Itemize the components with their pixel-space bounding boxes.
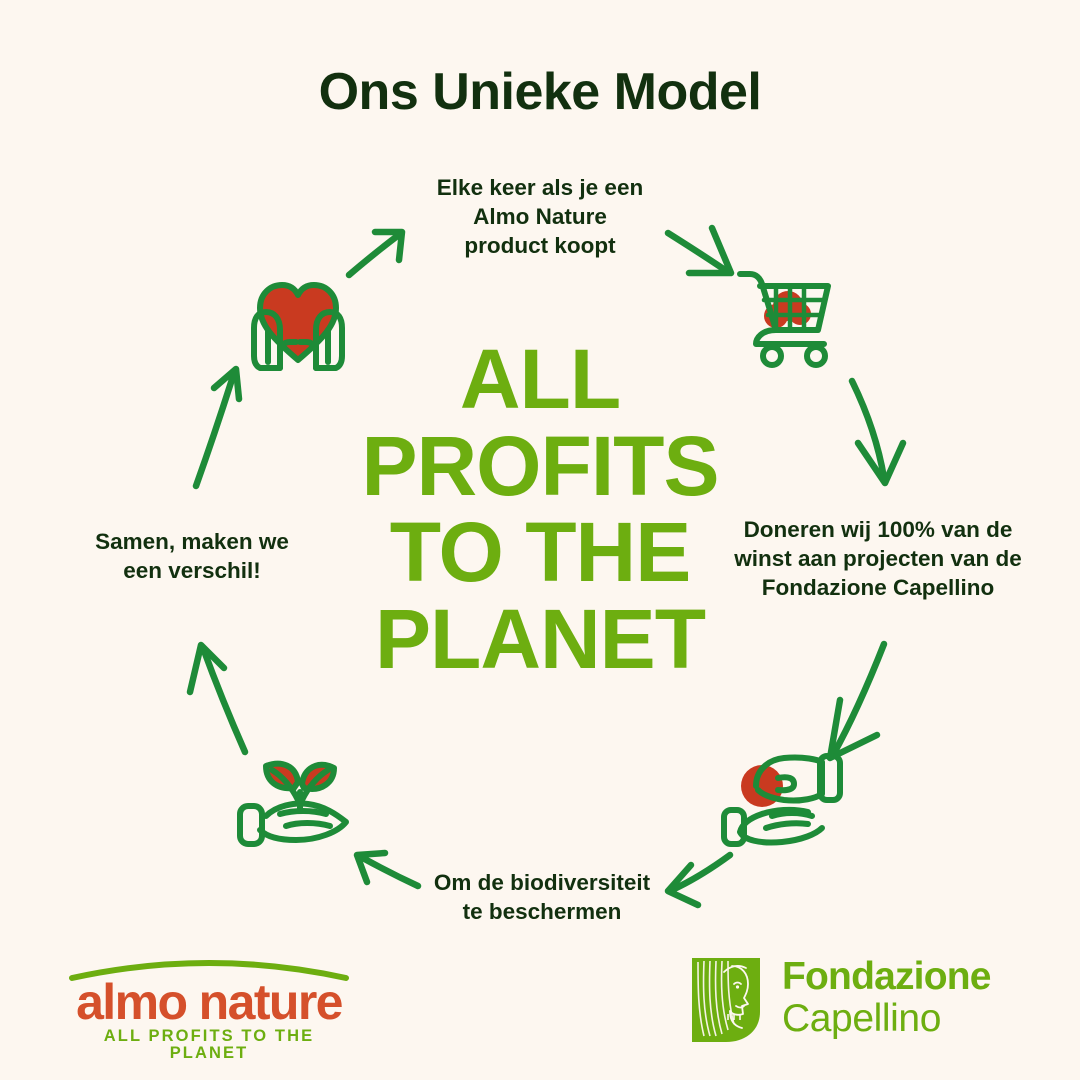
fondazione-line-2: Capellino: [782, 998, 1022, 1040]
arrow-text-to-cart: [668, 228, 731, 273]
hands-holding-heart-icon: [238, 256, 358, 374]
heart-shape: [260, 285, 336, 360]
arrow-sprout-to-together: [190, 645, 245, 752]
lower-hand-cuff: [724, 810, 744, 844]
upper-hand-cuff: [820, 756, 840, 800]
infographic-canvas: Ons Unieke Model ALL PROFITS TO THE PLAN…: [0, 0, 1080, 1080]
arrow-biodiversity-to-sprout: [357, 853, 418, 886]
fondazione-wordmark: Fondazione Capellino: [782, 956, 1022, 1040]
hand-finger-2: [280, 811, 326, 814]
hand-holding-sprout-icon: [238, 744, 360, 852]
fondazione-line-1: Fondazione: [782, 956, 1022, 998]
fondazione-capellino-logo[interactable]: Fondazione Capellino: [690, 952, 1020, 1052]
almo-nature-tagline: ALL PROFITS TO THE PLANET: [70, 1028, 348, 1061]
shopping-cart-icon: [732, 258, 844, 366]
cycle-arrows: [0, 0, 1080, 1080]
hand-cuff: [240, 806, 262, 844]
arrow-hand-to-biodiversity: [668, 855, 730, 905]
cart-wheel-left: [763, 347, 781, 365]
cart-wheel-right: [807, 347, 825, 365]
almo-nature-logo[interactable]: almo nature ALL PROFITS TO THE PLANET: [66, 952, 352, 1050]
lower-hand-finger-2: [772, 813, 812, 816]
almo-nature-wordmark: almo nature: [70, 977, 348, 1027]
fondazione-shield-icon: [690, 956, 768, 1044]
arrow-cart-to-donate: [852, 381, 903, 483]
hand-giving-coin-icon: [722, 742, 844, 848]
lower-hand-finger-1: [766, 823, 808, 828]
arrow-together-to-heart: [196, 369, 239, 486]
arrow-donate-to-hand: [830, 644, 884, 758]
hand-finger-1: [286, 823, 330, 826]
